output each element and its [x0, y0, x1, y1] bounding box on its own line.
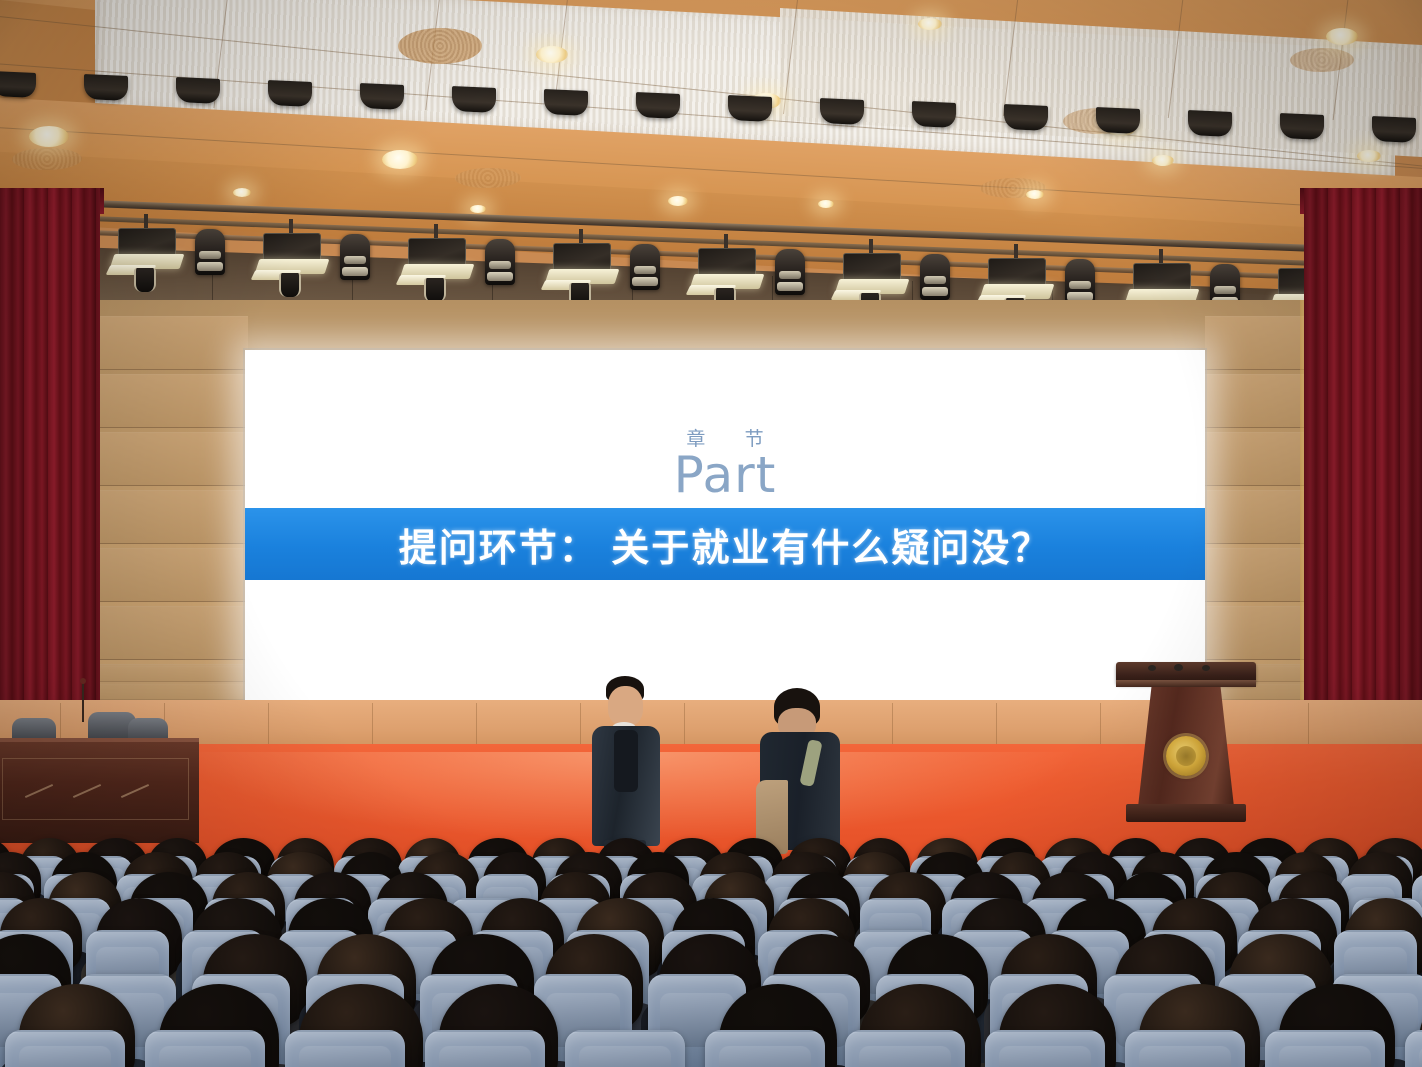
- ceiling-downlight-8: [1357, 150, 1381, 162]
- ceiling-speaker-13: [1096, 107, 1140, 134]
- podium-microphone-2: [1174, 664, 1183, 671]
- moving-head-light-4: [485, 239, 515, 285]
- moving-head-light-7: [920, 254, 950, 300]
- ceiling-downlight-6: [1326, 28, 1358, 45]
- ceiling-speaker-6: [452, 86, 496, 113]
- moving-head-lens-upper-8: [1069, 281, 1091, 289]
- slide-title-banner: 提问环节： 关于就业有什么疑问没？: [245, 508, 1205, 580]
- podium-emblem-icon: [1166, 736, 1206, 776]
- wall-panel-left-2: [100, 374, 248, 428]
- student-standing: [752, 688, 848, 860]
- stage-curtain-left: [0, 188, 100, 778]
- moving-head-lens-3: [342, 267, 368, 276]
- audience-seat-r6-c7: [845, 1030, 965, 1067]
- ceiling-speaker-2: [84, 74, 128, 101]
- stage-face-seam-5: [476, 703, 477, 747]
- moving-head-lens-upper-5: [634, 266, 656, 274]
- slide-banner-text: 提问环节： 关于就业有什么疑问没？: [399, 517, 1052, 572]
- ceiling-downlight-1: [29, 126, 69, 147]
- moving-head-lens-upper-4: [489, 261, 511, 269]
- moving-head-lens-5: [632, 277, 658, 286]
- truss-fixture-yoke-1: [134, 268, 156, 292]
- podium-microphone-1: [1148, 665, 1156, 671]
- wall-panel-left-5: [100, 548, 248, 602]
- ceiling-speaker-7: [544, 89, 588, 116]
- audience-seat-r6-c2: [145, 1030, 265, 1067]
- stage-face-seam-3: [268, 703, 269, 747]
- speaker-head: [608, 686, 643, 726]
- moving-head-light-2: [195, 229, 225, 275]
- projection-screen: 章 节 Part 提问环节： 关于就业有什么疑问没？: [245, 350, 1205, 702]
- moving-head-light-6: [775, 249, 805, 295]
- ceiling-downlight-10: [918, 18, 942, 30]
- ceiling-speaker-4: [268, 80, 312, 107]
- truss-fixture-3: [408, 238, 468, 306]
- speaker-standing: [586, 676, 668, 856]
- moving-head-lens-upper-7: [924, 276, 946, 284]
- audience-seat-r6-c6: [705, 1030, 825, 1067]
- moving-head-lens-6: [777, 282, 803, 291]
- audience-seat-r6-c3: [285, 1030, 405, 1067]
- podium-top-edge: [1116, 680, 1256, 687]
- ceiling-downlight-7: [1152, 155, 1174, 166]
- ceiling-speaker-15: [1280, 113, 1324, 140]
- stage-face-seam-10: [996, 703, 997, 747]
- wall-panel-left-3: [100, 432, 248, 486]
- stage-face-seam-6: [580, 703, 581, 747]
- wall-panel-left-4: [100, 490, 248, 544]
- moving-head-lens-4: [487, 272, 513, 281]
- audience-seat-r6-c9: [1125, 1030, 1245, 1067]
- moving-head-lens-upper-2: [199, 251, 221, 259]
- podium-microphone-3: [1202, 665, 1210, 671]
- slide-section-label-en: Part: [245, 446, 1205, 504]
- stage-face-seam-7: [684, 703, 685, 747]
- ceiling-speaker-3: [176, 77, 220, 104]
- speaker-inner-shirt: [614, 730, 638, 792]
- audience-seat-r6-c10: [1265, 1030, 1385, 1067]
- truss-fixture-1: [118, 228, 178, 296]
- head-table: [0, 738, 199, 843]
- stage-face-seam-4: [372, 703, 373, 747]
- podium-base: [1126, 804, 1246, 822]
- auditorium-photo: 章 节 Part 提问环节： 关于就业有什么疑问没？: [0, 0, 1422, 1067]
- moving-head-lens-upper-9: [1214, 286, 1236, 294]
- audience-seat-r6-c8: [985, 1030, 1105, 1067]
- wall-panel-left-6: [100, 606, 248, 660]
- moving-head-light-8: [1065, 259, 1095, 305]
- head-table-microphone-head: [80, 678, 86, 684]
- ceiling-speaker-9: [728, 95, 772, 122]
- head-table-inlay: [2, 758, 189, 820]
- audience-seat-r6-c11: [1405, 1030, 1422, 1067]
- ceiling-downlight-2: [382, 150, 418, 169]
- podium: [1130, 662, 1242, 824]
- truss-fixture-2: [263, 233, 323, 301]
- ceiling-speaker-11: [912, 101, 956, 128]
- ceiling-speaker-12: [1004, 104, 1048, 131]
- audience-seat-r6-c4: [425, 1030, 545, 1067]
- stage-curtain-right: [1304, 188, 1422, 778]
- audience-seat-r6-c5: [565, 1030, 685, 1067]
- ceiling-speaker-10: [820, 98, 864, 125]
- ceiling-speaker-5: [360, 83, 404, 110]
- moving-head-lens-upper-3: [344, 256, 366, 264]
- ceiling-downlight-3: [536, 46, 568, 63]
- moving-head-lens-7: [922, 287, 948, 296]
- head-table-microphone: [82, 682, 84, 722]
- moving-head-light-3: [340, 234, 370, 280]
- stage-face-seam-13: [1308, 703, 1309, 747]
- ceiling-speaker-14: [1188, 110, 1232, 137]
- truss-fixture-yoke-3: [424, 278, 446, 302]
- ceiling-speaker-1: [0, 71, 36, 98]
- stage-face-seam-11: [1100, 703, 1101, 747]
- wall-panel-left-1: [100, 316, 248, 370]
- truss-fixture-yoke-2: [279, 273, 301, 297]
- moving-head-lens-2: [197, 262, 223, 271]
- audience-seat-r6-c1: [5, 1030, 125, 1067]
- ceiling-speaker-8: [636, 92, 680, 119]
- moving-head-light-5: [630, 244, 660, 290]
- stage-face-seam-9: [892, 703, 893, 747]
- ceiling-speaker-16: [1372, 116, 1416, 143]
- moving-head-lens-upper-6: [779, 271, 801, 279]
